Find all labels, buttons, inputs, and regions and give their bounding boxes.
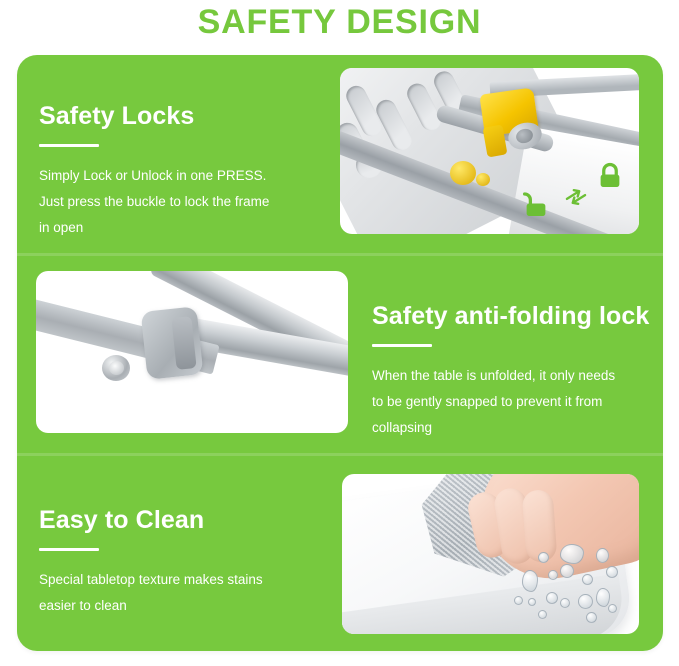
section-easy-to-clean: Easy to Clean Special tabletop texture m… — [17, 453, 663, 651]
section-anti-folding-lock: Safety anti-folding lock When the table … — [17, 253, 663, 453]
lock-state-icons — [519, 162, 631, 228]
water-droplet — [606, 566, 618, 578]
section-anti-folding-lock-text: Safety anti-folding lock When the table … — [372, 301, 657, 441]
water-droplet — [560, 544, 584, 564]
section-safety-locks-heading: Safety Locks — [39, 101, 329, 131]
water-droplet — [596, 588, 610, 607]
section-easy-to-clean-body-line-1: Special tabletop texture makes stains — [39, 567, 339, 593]
section-safety-locks: Safety Locks Simply Lock or Unlock in on… — [17, 55, 663, 253]
padlock-open-icon — [521, 191, 551, 226]
water-droplet — [538, 610, 547, 619]
water-droplet — [578, 594, 593, 609]
photo-easy-to-clean — [342, 474, 639, 634]
section-safety-locks-body-line-3: in open — [39, 215, 329, 241]
water-droplet — [582, 574, 593, 585]
water-droplet — [514, 596, 523, 605]
heading-underline — [372, 344, 432, 347]
padlock-closed-icon — [595, 162, 625, 197]
section-anti-folding-lock-heading: Safety anti-folding lock — [372, 301, 657, 331]
water-droplet — [586, 612, 597, 623]
water-droplet — [548, 570, 558, 580]
section-safety-locks-body-line-1: Simply Lock or Unlock in one PRESS. — [39, 163, 329, 189]
section-safety-locks-body-line-2: Just press the buckle to lock the frame — [39, 189, 329, 215]
heading-underline — [39, 548, 99, 551]
section-easy-to-clean-body-line-2: easier to clean — [39, 593, 339, 619]
section-easy-to-clean-heading: Easy to Clean — [39, 505, 339, 535]
photo-safety-lock-buckle — [340, 68, 639, 234]
heading-underline — [39, 144, 99, 147]
section-anti-folding-lock-body-line-3: collapsing — [372, 415, 657, 441]
water-droplet — [560, 564, 574, 578]
section-anti-folding-lock-body-line-1: When the table is unfolded, it only need… — [372, 363, 657, 389]
water-droplet — [546, 592, 558, 604]
section-safety-locks-text: Safety Locks Simply Lock or Unlock in on… — [39, 101, 329, 241]
water-droplet — [608, 604, 617, 613]
water-droplet — [560, 598, 570, 608]
infographic-page: SAFETY DESIGN Safety Locks Simply Lock o… — [0, 0, 679, 666]
swap-arrows-icon — [563, 184, 589, 215]
water-droplet — [522, 570, 538, 592]
water-droplet — [596, 548, 609, 563]
section-anti-folding-lock-body-line-2: to be gently snapped to prevent it from — [372, 389, 657, 415]
section-easy-to-clean-text: Easy to Clean Special tabletop texture m… — [39, 505, 339, 619]
water-droplet — [528, 598, 536, 606]
water-droplet — [538, 552, 549, 563]
page-title: SAFETY DESIGN — [0, 0, 679, 44]
photo-anti-folding-joint — [36, 271, 348, 433]
features-panel: Safety Locks Simply Lock or Unlock in on… — [17, 55, 663, 651]
